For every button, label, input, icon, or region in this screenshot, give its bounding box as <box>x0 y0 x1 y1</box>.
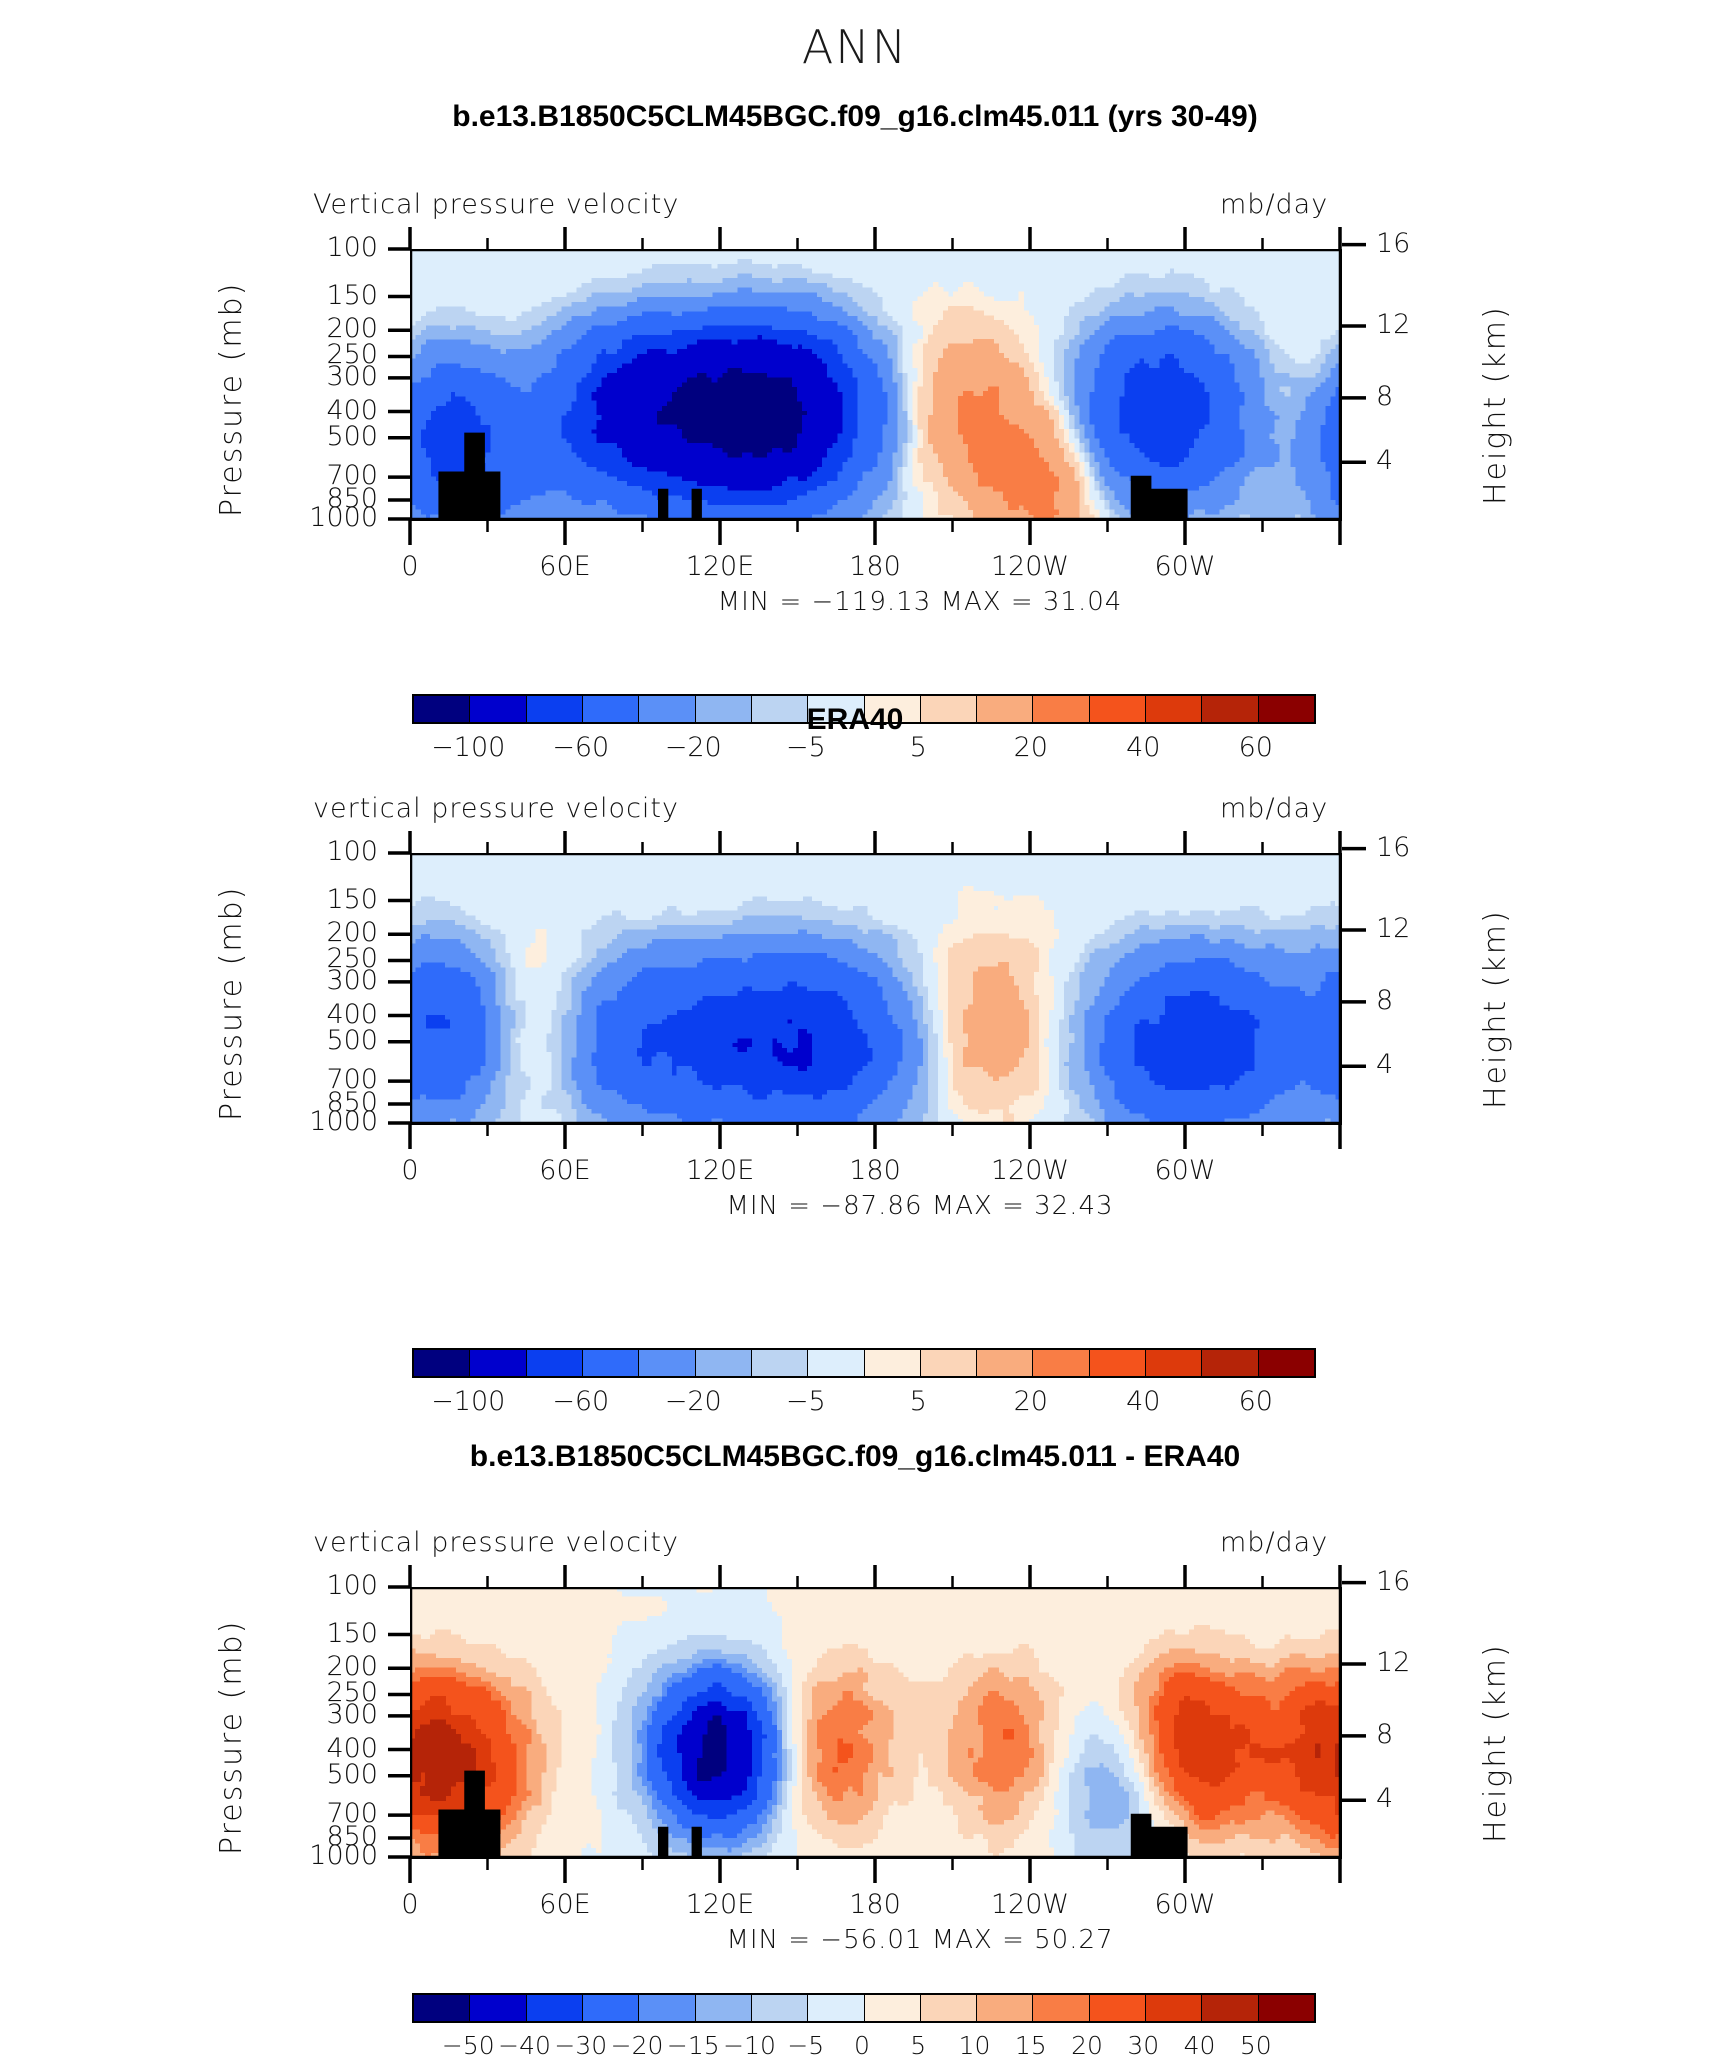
colorbar-swatch <box>976 1350 1032 1376</box>
field-label-obs: vertical pressure velocity <box>313 793 679 824</box>
xtick-model-1: 60E <box>495 551 635 582</box>
colorbar-tick-diff-3: −20 <box>611 2031 664 2060</box>
panel-title-obs: ERA40 <box>0 703 1710 737</box>
y2-axis-title-diff: Height (km) <box>1478 1643 1513 1843</box>
xtick-diff-2: 120E <box>650 1889 790 1920</box>
y2tick-diff-2: 8 <box>1376 1719 1393 1750</box>
colorbar-swatch <box>469 1350 525 1376</box>
panel-title-model: b.e13.B1850C5CLM45BGC.f09_g16.clm45.011 … <box>0 100 1710 134</box>
colorbar-tick-obs-5: 20 <box>1014 1386 1048 1417</box>
colorbar-obs <box>412 1348 1316 1378</box>
colorbar-swatch <box>1201 1350 1257 1376</box>
colorbar-swatch <box>414 1350 469 1376</box>
colorbar-swatch <box>695 1995 751 2021</box>
y2tick-diff-3: 4 <box>1376 1783 1393 1814</box>
xtick-model-3: 180 <box>805 551 945 582</box>
season-title: ANN <box>0 20 1710 74</box>
y2tick-model-3: 4 <box>1376 445 1393 476</box>
colorbar-tick-obs-7: 60 <box>1239 1386 1273 1417</box>
colorbar-swatch <box>1145 1350 1201 1376</box>
xtick-obs-0: 0 <box>340 1155 480 1186</box>
colorbar-swatch <box>1089 1350 1145 1376</box>
colorbar-tick-diff-2: −30 <box>554 2031 607 2060</box>
colorbar-tick-diff-9: 10 <box>959 2031 991 2060</box>
colorbar-swatch <box>864 1995 920 2021</box>
colorbar-tick-diff-12: 30 <box>1127 2031 1159 2060</box>
colorbar-swatch <box>582 1995 638 2021</box>
field-label-model: Vertical pressure velocity <box>313 189 679 220</box>
y2tick-obs-3: 4 <box>1376 1049 1393 1080</box>
colorbar-swatch <box>1258 1995 1314 2021</box>
ytick-diff-9: 1000 <box>230 1840 378 1871</box>
colorbar-swatch <box>807 1350 863 1376</box>
colorbar-tick-obs-4: 5 <box>910 1386 927 1417</box>
colorbar-tick-diff-6: −5 <box>787 2031 824 2060</box>
colorbar-swatch <box>920 1350 976 1376</box>
colorbar-swatch <box>751 1995 807 2021</box>
y2tick-obs-2: 8 <box>1376 985 1393 1016</box>
colorbar-tick-diff-4: −15 <box>667 2031 720 2060</box>
colorbar-tick-diff-5: −10 <box>723 2031 776 2060</box>
colorbar-swatch <box>1258 1350 1314 1376</box>
colorbar-tick-obs-2: −20 <box>665 1386 722 1417</box>
xtick-diff-5: 60W <box>1115 1889 1255 1920</box>
ytick-diff-1: 150 <box>230 1618 378 1649</box>
colorbar-swatch <box>1145 1995 1201 2021</box>
xtick-diff-1: 60E <box>495 1889 635 1920</box>
figure-page: ANN b.e13.B1850C5CLM45BGC.f09_g16.clm45.… <box>0 0 1710 2038</box>
colorbar-tick-diff-10: 15 <box>1015 2031 1047 2060</box>
ytick-obs-1: 150 <box>230 884 378 915</box>
colorbar-tick-obs-1: −60 <box>552 1386 609 1417</box>
units-label-obs: mb/day <box>1220 793 1328 824</box>
y2tick-diff-1: 12 <box>1376 1647 1410 1678</box>
colorbar-swatch <box>1201 1995 1257 2021</box>
y2tick-obs-0: 16 <box>1376 832 1410 863</box>
colorbar-diff <box>412 1993 1316 2023</box>
y2tick-obs-1: 12 <box>1376 913 1410 944</box>
units-label-model: mb/day <box>1220 189 1328 220</box>
y2-axis-title-model: Height (km) <box>1478 305 1513 505</box>
colorbar-swatch <box>414 1995 469 2021</box>
xtick-obs-2: 120E <box>650 1155 790 1186</box>
xtick-obs-3: 180 <box>805 1155 945 1186</box>
colorbar-swatch <box>526 1350 582 1376</box>
xtick-diff-4: 120W <box>960 1889 1100 1920</box>
y2tick-model-2: 8 <box>1376 381 1393 412</box>
ytick-diff-0: 100 <box>230 1570 378 1601</box>
ytick-obs-0: 100 <box>230 836 378 867</box>
units-label-diff: mb/day <box>1220 1527 1328 1558</box>
field-label-diff: vertical pressure velocity <box>313 1527 679 1558</box>
xtick-obs-4: 120W <box>960 1155 1100 1186</box>
colorbar-tick-obs-6: 40 <box>1126 1386 1160 1417</box>
minmax-diff: MIN = −56.01 MAX = 50.27 <box>660 1925 1180 1955</box>
colorbar-swatch <box>807 1995 863 2021</box>
colorbar-swatch <box>469 1995 525 2021</box>
xtick-model-5: 60W <box>1115 551 1255 582</box>
colorbar-swatch <box>582 1350 638 1376</box>
y-axis-title-model: Pressure (mb) <box>214 282 249 517</box>
colorbar-swatch <box>864 1350 920 1376</box>
minmax-model: MIN = −119.13 MAX = 31.04 <box>660 587 1180 617</box>
y2tick-model-1: 12 <box>1376 309 1410 340</box>
colorbar-swatch <box>638 1995 694 2021</box>
ytick-obs-4: 300 <box>230 965 378 996</box>
colorbar-tick-diff-14: 50 <box>1240 2031 1272 2060</box>
colorbar-tick-obs-3: −5 <box>786 1386 826 1417</box>
colorbar-swatch <box>638 1350 694 1376</box>
ytick-model-1: 150 <box>230 280 378 311</box>
y-axis-title-obs: Pressure (mb) <box>214 886 249 1121</box>
ytick-model-4: 300 <box>230 361 378 392</box>
xtick-diff-0: 0 <box>340 1889 480 1920</box>
ytick-model-0: 100 <box>230 232 378 263</box>
ytick-model-6: 500 <box>230 421 378 452</box>
colorbar-tick-diff-8: 5 <box>910 2031 926 2060</box>
colorbar-tick-diff-7: 0 <box>854 2031 870 2060</box>
xtick-obs-1: 60E <box>495 1155 635 1186</box>
panel-title-diff: b.e13.B1850C5CLM45BGC.f09_g16.clm45.011 … <box>0 1440 1710 1474</box>
colorbar-tick-obs-0: −100 <box>431 1386 505 1417</box>
y-axis-title-diff: Pressure (mb) <box>214 1620 249 1855</box>
ytick-diff-4: 300 <box>230 1699 378 1730</box>
colorbar-swatch <box>526 1995 582 2021</box>
colorbar-tick-diff-13: 40 <box>1184 2031 1216 2060</box>
colorbar-tick-diff-1: −40 <box>498 2031 551 2060</box>
ytick-obs-6: 500 <box>230 1025 378 1056</box>
colorbar-swatch <box>976 1995 1032 2021</box>
y2-axis-title-obs: Height (km) <box>1478 909 1513 1109</box>
ytick-model-9: 1000 <box>230 502 378 533</box>
colorbar-swatch <box>695 1350 751 1376</box>
ytick-diff-6: 500 <box>230 1759 378 1790</box>
colorbar-tick-diff-11: 20 <box>1071 2031 1103 2060</box>
y2tick-model-0: 16 <box>1376 228 1410 259</box>
minmax-obs: MIN = −87.86 MAX = 32.43 <box>660 1191 1180 1221</box>
colorbar-swatch <box>1089 1995 1145 2021</box>
ytick-obs-9: 1000 <box>230 1106 378 1137</box>
xtick-diff-3: 180 <box>805 1889 945 1920</box>
colorbar-swatch <box>1032 1350 1088 1376</box>
xtick-model-4: 120W <box>960 551 1100 582</box>
xtick-obs-5: 60W <box>1115 1155 1255 1186</box>
colorbar-swatch <box>1032 1995 1088 2021</box>
xtick-model-0: 0 <box>340 551 480 582</box>
colorbar-swatch <box>751 1350 807 1376</box>
colorbar-swatch <box>920 1995 976 2021</box>
xtick-model-2: 120E <box>650 551 790 582</box>
y2tick-diff-0: 16 <box>1376 1566 1410 1597</box>
colorbar-tick-diff-0: −50 <box>442 2031 495 2060</box>
